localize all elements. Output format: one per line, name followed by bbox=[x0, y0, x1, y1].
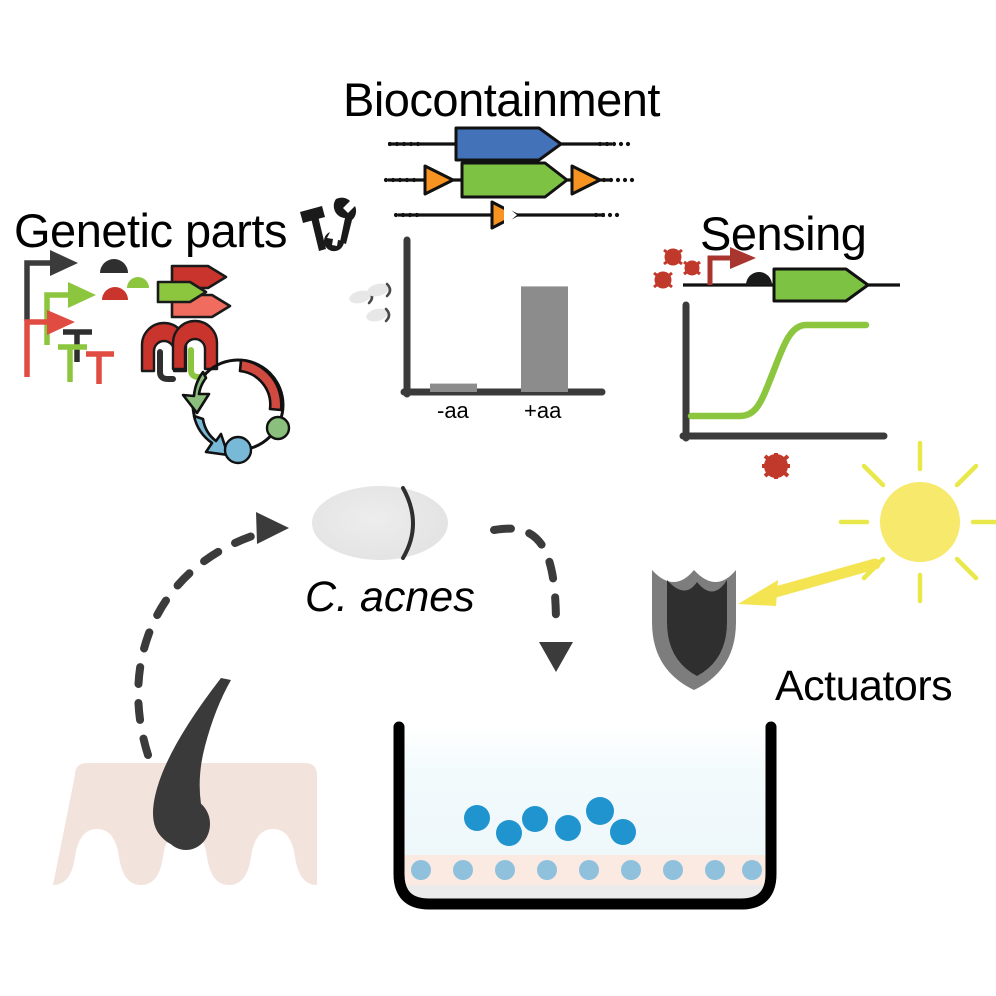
sensing-cds-green-icon bbox=[774, 269, 868, 301]
genetic-parts-title: Genetic parts bbox=[14, 203, 287, 258]
terminator-red-icon bbox=[86, 354, 114, 384]
bar-label-plus-aa: +aa bbox=[524, 398, 561, 424]
wrench-icon bbox=[324, 198, 356, 252]
flow-arrow-skin-to-bacterium bbox=[138, 512, 289, 755]
genetic-parts-collection bbox=[27, 250, 289, 463]
sun-icon bbox=[841, 443, 996, 601]
actuators-panel bbox=[652, 443, 996, 690]
escaping-cells-icon bbox=[348, 282, 390, 324]
rbs-green-icon bbox=[127, 277, 149, 288]
biocontainment-title: Biocontainment bbox=[343, 72, 660, 127]
tools-icon bbox=[300, 198, 356, 252]
media-upper bbox=[395, 727, 775, 862]
sensing-rbs-icon bbox=[746, 272, 772, 285]
c-acnes-bacterium-icon bbox=[312, 486, 448, 560]
inducer-molecule-single-icon bbox=[762, 453, 790, 479]
construct-excised bbox=[394, 202, 619, 228]
skin-follicle-illustration bbox=[53, 678, 317, 885]
rbs-red-icon bbox=[102, 287, 128, 300]
species-label: C. acnes bbox=[305, 573, 475, 622]
biocontainment-bar-chart bbox=[404, 240, 602, 394]
recombination-site-left-icon bbox=[425, 166, 453, 194]
hammer-icon bbox=[300, 206, 326, 251]
bar-minus-aa bbox=[430, 384, 477, 392]
plasmid-node-green bbox=[267, 417, 289, 439]
graphical-abstract: Biocontainment Genetic parts Sensing Act… bbox=[0, 0, 996, 996]
settled-cells bbox=[411, 860, 762, 880]
construct-intact-blue bbox=[388, 128, 630, 160]
bar-plus-aa bbox=[521, 286, 568, 392]
figure-canvas bbox=[0, 0, 996, 996]
culture-vessel bbox=[395, 727, 775, 915]
sensing-panel bbox=[654, 247, 900, 479]
recombination-site-right-icon bbox=[572, 166, 600, 194]
bar-label-minus-aa: -aa bbox=[437, 398, 469, 424]
plasmid-node-blue bbox=[225, 437, 251, 463]
actuators-title: Actuators bbox=[775, 662, 952, 711]
cds-arrow-blue bbox=[456, 128, 561, 160]
terminator-green-icon bbox=[58, 347, 87, 382]
light-arrow-icon bbox=[738, 564, 875, 606]
shield-icon bbox=[652, 570, 736, 690]
sensing-response-chart bbox=[683, 305, 884, 438]
inducer-molecules-icon bbox=[654, 249, 700, 289]
biocontainment-constructs bbox=[384, 128, 634, 228]
sensing-sigmoid-curve bbox=[691, 325, 866, 416]
rbs-black-icon bbox=[100, 259, 128, 273]
cds-arrow-green bbox=[462, 163, 567, 197]
sensing-title: Sensing bbox=[700, 206, 866, 261]
construct-flanked-green bbox=[384, 163, 634, 197]
flow-arrow-bacterium-to-culture bbox=[494, 529, 573, 672]
